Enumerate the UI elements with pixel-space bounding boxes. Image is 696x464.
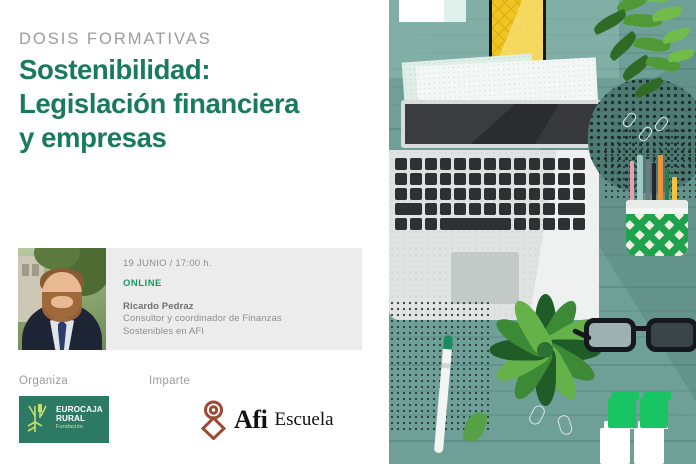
glasses-lens-left bbox=[584, 318, 636, 352]
speaker-name: Ricardo Pedraz bbox=[123, 300, 355, 313]
glasses-bridge bbox=[634, 326, 648, 331]
photo-mouth-area bbox=[51, 296, 73, 308]
speaker-role-line-1: Consultor y coordinador de Finanzas bbox=[123, 313, 355, 326]
headline-line-3: y empresas bbox=[19, 121, 379, 155]
eyeglasses bbox=[584, 318, 696, 352]
glasses-lens-right bbox=[646, 318, 696, 352]
wheat-icon bbox=[25, 402, 57, 438]
event-dateline: 19 JUNIO / 17:00 h. bbox=[123, 258, 355, 269]
cup-rim bbox=[626, 200, 688, 208]
event-modality-badge: ONLINE bbox=[123, 278, 355, 289]
organiza-group: Organiza bbox=[19, 375, 68, 387]
speaker-role-line-2: Sostenibles en AFI bbox=[123, 326, 355, 339]
afi-infinity-icon bbox=[200, 399, 227, 440]
lego-bricks bbox=[594, 390, 690, 464]
laptop-keyboard bbox=[395, 158, 585, 230]
speaker-photo bbox=[18, 248, 106, 350]
afi-subword: Escuela bbox=[274, 410, 333, 429]
afi-wordmark: Afi bbox=[234, 407, 267, 433]
desk-illustration bbox=[389, 0, 696, 464]
afi-escuela-logo: Afi Escuela bbox=[200, 399, 334, 440]
poster-root: DOSIS FORMATIVAS Sostenibilidad: Legisla… bbox=[0, 0, 696, 464]
organiza-label: Organiza bbox=[19, 375, 68, 387]
kicker-text: DOSIS FORMATIVAS bbox=[19, 30, 212, 49]
page-title: Sostenibilidad: Legislación financiera y… bbox=[19, 53, 379, 155]
imparte-label: Imparte bbox=[149, 375, 190, 387]
pen-band bbox=[441, 363, 450, 369]
imparte-group: Imparte bbox=[149, 375, 190, 387]
eurocaja-line-2: RURAL bbox=[56, 414, 103, 423]
pencil-cup bbox=[626, 200, 688, 256]
pen-tip bbox=[443, 335, 453, 350]
cup-chevron-pattern bbox=[626, 214, 688, 256]
eurocaja-rural-logo: EUROCAJA RURAL Fundación bbox=[19, 396, 109, 443]
event-details: 19 JUNIO / 17:00 h. ONLINE Ricardo Pedra… bbox=[123, 258, 355, 338]
left-text-panel: DOSIS FORMATIVAS Sostenibilidad: Legisla… bbox=[0, 0, 390, 464]
potted-plant-leaves bbox=[576, 0, 696, 110]
paper-sheet-tinted bbox=[444, 0, 466, 22]
headline-line-2: Legislación financiera bbox=[19, 87, 379, 121]
eurocaja-wordmark: EUROCAJA RURAL Fundación bbox=[56, 405, 103, 430]
eurocaja-line-3: Fundación bbox=[56, 424, 103, 430]
eurocaja-line-1: EUROCAJA bbox=[56, 405, 103, 414]
headline-line-1: Sostenibilidad: bbox=[19, 53, 379, 87]
